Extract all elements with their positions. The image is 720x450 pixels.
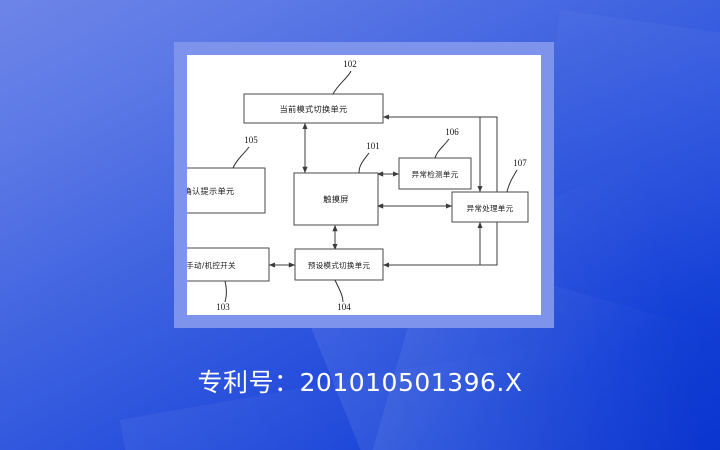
leader-105 (233, 147, 249, 168)
block-label-current-mode-switch-unit: 当前模式切换单元 (280, 104, 348, 114)
ref-number-103: 103 (216, 302, 230, 312)
leader-104 (335, 280, 343, 302)
leader-102 (333, 71, 351, 94)
ref-number-107: 107 (513, 158, 527, 168)
patent-number-caption: 专利号：201010501396.X (0, 363, 720, 399)
block-label-abnormality-handling-unit: 异常处理单元 (467, 203, 514, 213)
block-label-touch-screen: 触摸屏 (323, 194, 348, 204)
block-label-manual-machine-switch: 手动/机控开关 (187, 260, 236, 270)
patent-figure-panel: 当前模式切换单元 确认提示单元 触摸屏 异常检测单元 异常处理单元 手动/机控开… (187, 55, 541, 315)
ref-number-104: 104 (337, 302, 351, 312)
block-label-preset-mode-switch-unit: 预设模式切换单元 (308, 260, 371, 270)
leader-101 (359, 153, 369, 173)
ref-number-106: 106 (445, 127, 459, 137)
leader-107 (507, 170, 517, 192)
leader-106 (435, 139, 449, 158)
block-label-confirm-prompt-unit: 确认提示单元 (187, 186, 234, 196)
block-label-abnormality-detection-unit: 异常检测单元 (412, 169, 459, 179)
patent-block-diagram: 当前模式切换单元 确认提示单元 触摸屏 异常检测单元 异常处理单元 手动/机控开… (187, 55, 541, 315)
ref-number-105: 105 (244, 135, 258, 145)
ref-number-101: 101 (366, 141, 380, 151)
leader-103 (225, 281, 227, 302)
ref-number-102: 102 (343, 59, 357, 69)
slide-canvas: 当前模式切换单元 确认提示单元 触摸屏 异常检测单元 异常处理单元 手动/机控开… (0, 0, 720, 450)
